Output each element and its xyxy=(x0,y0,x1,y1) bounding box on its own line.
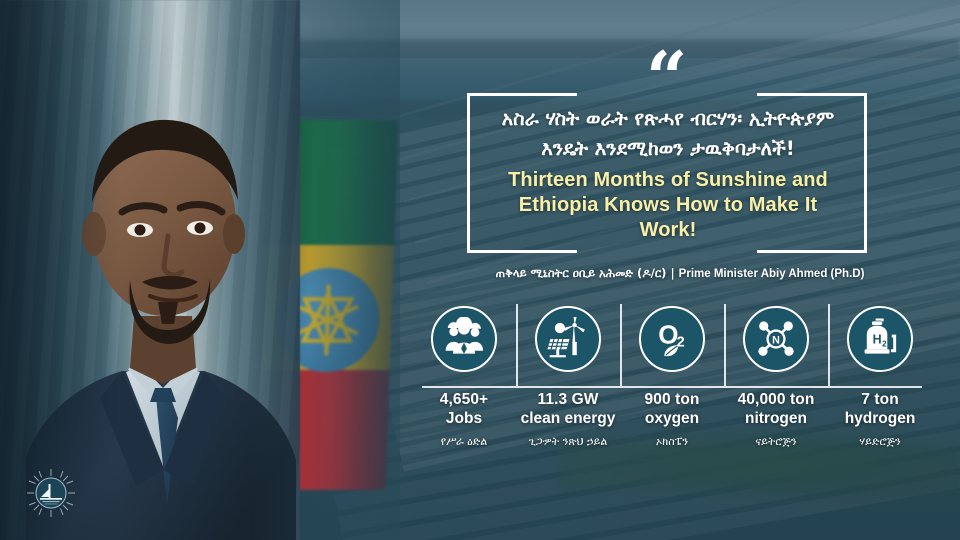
svg-text:H: H xyxy=(873,332,882,346)
quote-amharic-line-2: እንዴት እንደሚከወን ታዉቅባታለች! xyxy=(470,134,866,164)
quote-amharic-line-1: አስራ ሃስት ወራት የጽሓየ ብርሃን፡ ኢትዮጵያም xyxy=(470,104,866,134)
stat-item-nitrogen: N 40,000 ton nitrogen ናይትሮጅን xyxy=(724,302,828,460)
portrait-prime-minister xyxy=(0,0,330,540)
quote-english-line-1: Thirteen Months of Sunshine and xyxy=(470,168,866,193)
stat-number: 40,000 ton xyxy=(738,390,815,409)
stat-amharic: ናይትሮጅን xyxy=(755,435,796,449)
stat-item-jobs: 4,650+ Jobs የሥራ ዕድል xyxy=(412,302,516,460)
quote-text-english: Thirteen Months of Sunshine and Ethiopia… xyxy=(470,168,866,243)
stat-number: 11.3 GW xyxy=(537,390,598,409)
stat-number: 4,650+ xyxy=(440,390,488,409)
stat-amharic: የሥራ ዕድል xyxy=(441,435,488,449)
hydrogen-tank-icon: H 2 xyxy=(847,306,913,372)
attribution-separator: | xyxy=(670,266,674,280)
quote-text-amharic: አስራ ሃስት ወራት የጽሓየ ብርሃን፡ ኢትዮጵያም እንዴት እንደሚከ… xyxy=(470,104,866,164)
stat-amharic: ጊጋዏት ንጽህ ኃይል xyxy=(529,435,608,449)
stat-divider xyxy=(724,304,726,386)
svg-text:2: 2 xyxy=(882,339,887,348)
svg-text:2: 2 xyxy=(677,335,685,351)
attribution-english: Prime Minister Abiy Ahmed (Ph.D) xyxy=(679,268,865,280)
quote-english-line-3: Work! xyxy=(470,218,866,243)
stat-divider xyxy=(620,304,622,386)
stat-divider xyxy=(828,304,830,386)
stat-item-hydrogen: H 2 7 ton hydrogen ሃይድሮጅን xyxy=(828,302,932,460)
stat-number: 900 ton xyxy=(645,390,700,409)
quote-english-line-2: Ethiopia Knows How to Make It xyxy=(470,193,866,218)
stat-icon-box: O 2 xyxy=(639,306,705,372)
stat-icon-box: N xyxy=(743,306,809,372)
quote-frame-top-right xyxy=(757,93,867,96)
solar-wind-icon xyxy=(535,306,601,372)
stat-unit: Jobs xyxy=(446,409,482,428)
stat-item-oxygen: O 2 900 ton oxygen ኦክስፔን xyxy=(620,302,724,460)
stat-icon-box xyxy=(431,306,497,372)
stat-item-clean-energy: 11.3 GW clean energy ጊጋዏት ንጽህ ኃይል xyxy=(516,302,620,460)
workers-icon xyxy=(431,306,497,372)
statistics-row: 4,650+ Jobs የሥራ ዕድል xyxy=(412,302,932,460)
stat-number: 7 ton xyxy=(861,390,899,409)
stat-unit: hydrogen xyxy=(845,409,916,428)
svg-text:O: O xyxy=(658,320,678,350)
attribution-amharic: ጠቅላይ ሚኒስትር ዐቢይ አሕመድ (ዶ/ር) xyxy=(496,266,667,280)
svg-text:N: N xyxy=(772,335,780,347)
stat-unit: clean energy xyxy=(521,409,616,428)
stat-amharic: ኦክስፔን xyxy=(656,435,688,449)
nitrogen-molecule-icon: N xyxy=(743,306,809,372)
quote-attribution: ጠቅላይ ሚኒስትር ዐቢይ አሕመድ (ዶ/ር) | Prime Minist… xyxy=(430,266,930,281)
quote-frame-top-left xyxy=(467,93,577,96)
stat-icon-box: H 2 xyxy=(847,306,913,372)
stat-amharic: ሃይድሮጅን xyxy=(859,435,901,449)
stat-divider xyxy=(516,304,518,386)
poster-canvas: “ አስራ ሃስት ወራት የጽሓየ ብርሃን፡ ኢትዮጵያም እንዴት እንደ… xyxy=(0,0,960,540)
quote-frame-bottom-right xyxy=(757,250,867,253)
stat-unit: nitrogen xyxy=(745,409,807,428)
stat-icon-box xyxy=(535,306,601,372)
oxygen-leaf-icon: O 2 xyxy=(639,306,705,372)
quote-frame-bottom-left xyxy=(467,250,577,253)
government-seal-emblem xyxy=(26,468,76,518)
stat-unit: oxygen xyxy=(645,409,699,428)
